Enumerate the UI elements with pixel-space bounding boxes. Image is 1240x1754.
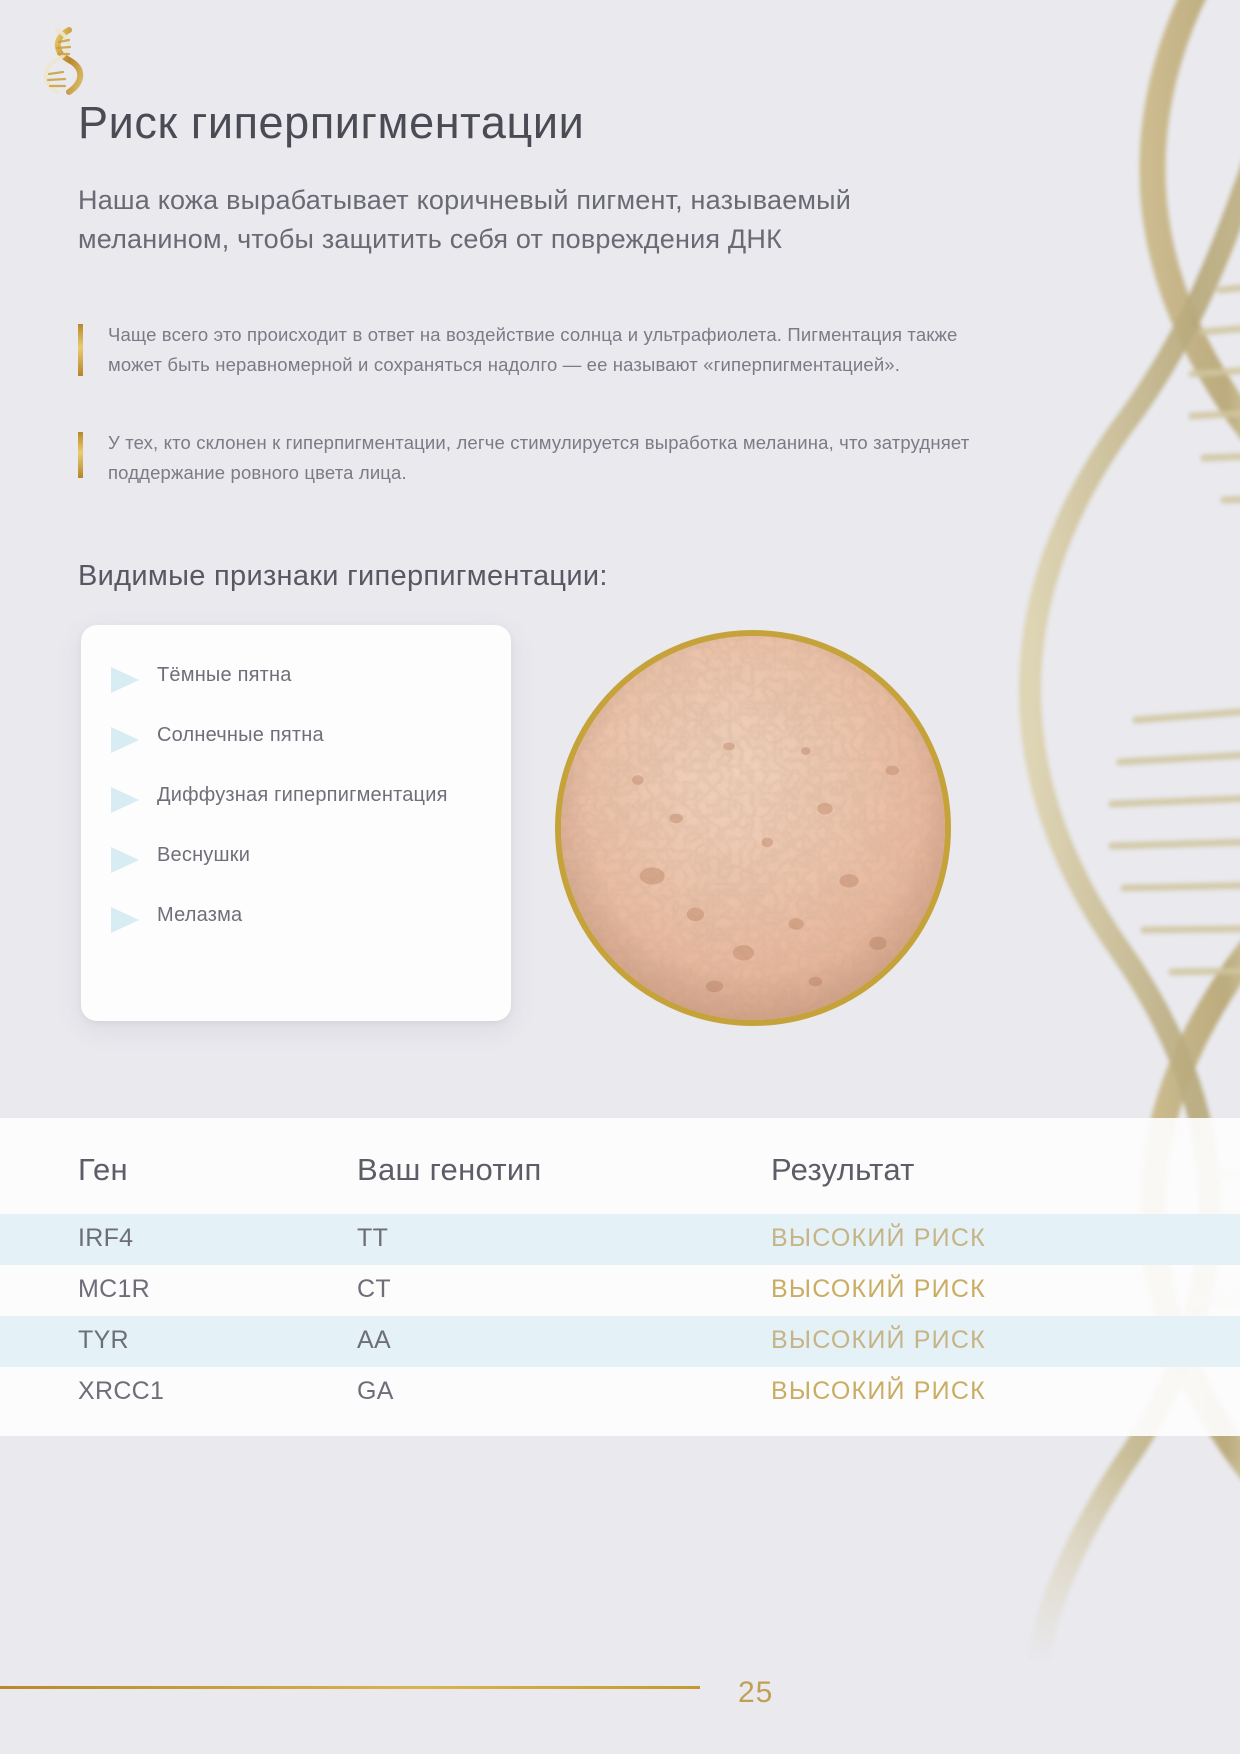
table-row: TYR AA ВЫСОКИЙ РИСК <box>0 1316 1240 1367</box>
triangle-arrow-icon <box>111 667 139 693</box>
content-column: Риск гиперпигментации Наша кожа вырабаты… <box>78 96 1078 1045</box>
signs-row: Тёмные пятна Солнечные пятна Диффузная г… <box>78 625 1078 1045</box>
quote-text: У тех, кто склонен к гиперпигментации, л… <box>108 432 969 483</box>
lede-paragraph: Наша кожа вырабатывает коричневый пигмен… <box>78 181 938 260</box>
cell-genotype: AA <box>345 1316 755 1367</box>
table-header-row: Ген Ваш генотип Результат <box>0 1118 1240 1214</box>
quote-block-2: У тех, кто склонен к гиперпигментации, л… <box>78 428 1008 488</box>
cell-result: ВЫСОКИЙ РИСК <box>755 1367 1240 1418</box>
cell-genotype: GA <box>345 1367 755 1418</box>
quote-block-1: Чаще всего это происходит в ответ на воз… <box>78 320 1008 380</box>
cell-gene: MC1R <box>0 1265 345 1316</box>
triangle-arrow-icon <box>111 727 139 753</box>
quote-list: Чаще всего это происходит в ответ на воз… <box>78 320 1078 488</box>
page-title: Риск гиперпигментации <box>78 96 1078 151</box>
list-item: Солнечные пятна <box>111 723 481 753</box>
table-row: MC1R CT ВЫСОКИЙ РИСК <box>0 1265 1240 1316</box>
page-footer: 25 <box>0 1594 1240 1754</box>
list-item: Тёмные пятна <box>111 663 481 693</box>
cell-result: ВЫСОКИЙ РИСК <box>755 1265 1240 1316</box>
report-page: Риск гиперпигментации Наша кожа вырабаты… <box>0 0 1240 1754</box>
cell-genotype: TT <box>345 1214 755 1265</box>
sign-label: Диффузная гиперпигментация <box>157 783 448 809</box>
gold-bar-icon <box>78 324 83 376</box>
triangle-arrow-icon <box>111 847 139 873</box>
genotype-table: Ген Ваш генотип Результат IRF4 TT ВЫСОКИ… <box>0 1118 1240 1418</box>
genotype-table-block: Ген Ваш генотип Результат IRF4 TT ВЫСОКИ… <box>0 1118 1240 1436</box>
column-header-gene: Ген <box>0 1118 345 1214</box>
sign-label: Веснушки <box>157 843 250 869</box>
cell-genotype: CT <box>345 1265 755 1316</box>
cell-gene: XRCC1 <box>0 1367 345 1418</box>
list-item: Мелазма <box>111 903 481 933</box>
sign-label: Солнечные пятна <box>157 723 324 749</box>
quote-text: Чаще всего это происходит в ответ на воз… <box>108 324 957 375</box>
sign-label: Тёмные пятна <box>157 663 292 689</box>
cell-result: ВЫСОКИЙ РИСК <box>755 1316 1240 1367</box>
dna-helix-logo-icon <box>36 22 90 100</box>
footer-gold-rule <box>0 1686 700 1689</box>
triangle-arrow-icon <box>111 907 139 933</box>
signs-card: Тёмные пятна Солнечные пятна Диффузная г… <box>81 625 511 1021</box>
cell-gene: TYR <box>0 1316 345 1367</box>
table-row: IRF4 TT ВЫСОКИЙ РИСК <box>0 1214 1240 1265</box>
gold-bar-icon <box>78 432 83 478</box>
cell-result: ВЫСОКИЙ РИСК <box>755 1214 1240 1265</box>
list-item: Диффузная гиперпигментация <box>111 783 481 813</box>
list-item: Веснушки <box>111 843 481 873</box>
page-number: 25 <box>738 1676 773 1710</box>
column-header-result: Результат <box>755 1118 1240 1214</box>
skin-photo <box>555 630 951 1026</box>
triangle-arrow-icon <box>111 787 139 813</box>
table-row: XRCC1 GA ВЫСОКИЙ РИСК <box>0 1367 1240 1418</box>
column-header-genotype: Ваш генотип <box>345 1118 755 1214</box>
signs-section-title: Видимые признаки гиперпигментации: <box>78 560 1078 593</box>
sign-label: Мелазма <box>157 903 242 929</box>
cell-gene: IRF4 <box>0 1214 345 1265</box>
